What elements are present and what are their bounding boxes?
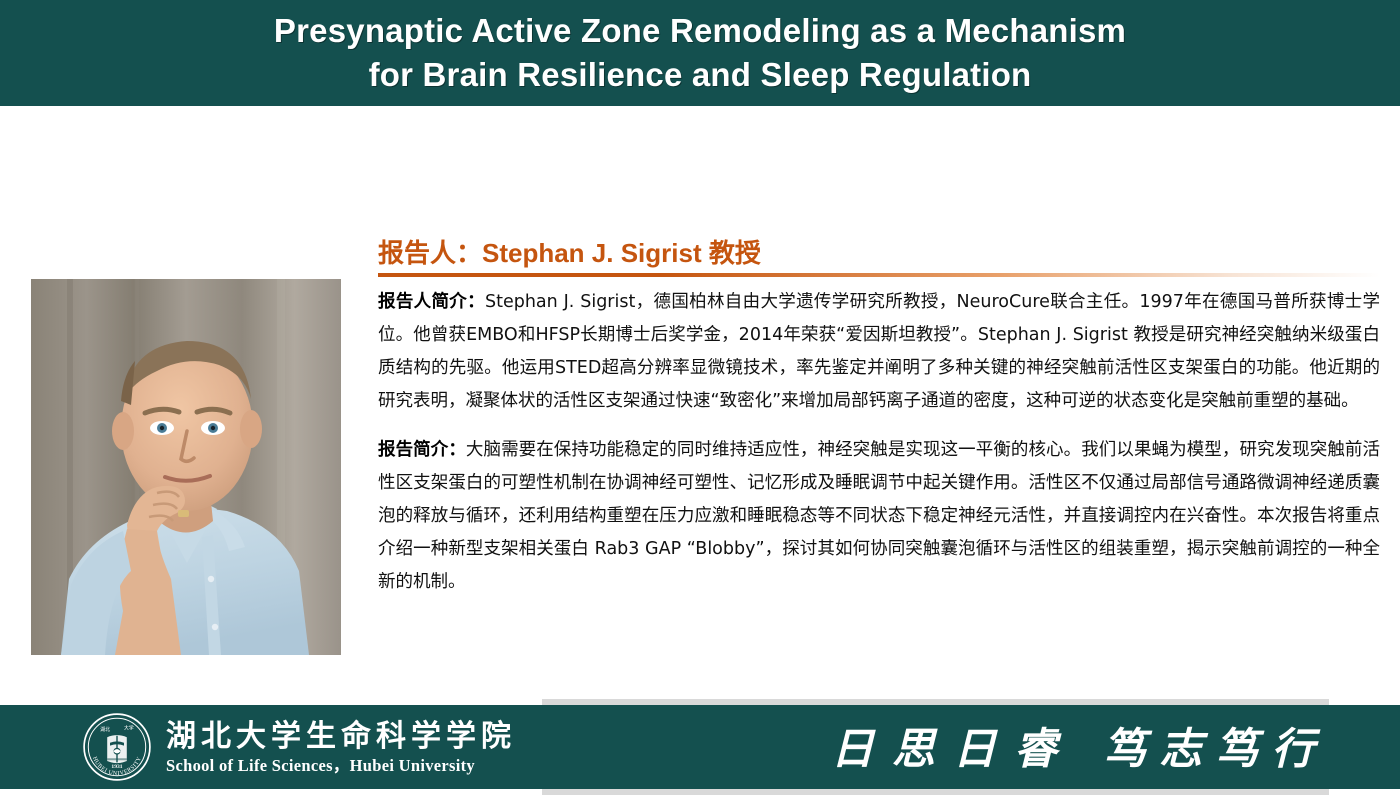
school-name-block: 湖北大学生命科学学院 School of Life Sciences，Hubei… [166, 719, 516, 776]
abstract-label: 报告简介： [378, 440, 466, 460]
motto-part-2: 笃志笃行 [1103, 725, 1327, 775]
speaker-heading: 报告人：Stephan J. Sigrist 教授 [378, 236, 1380, 270]
svg-text:湖北: 湖北 [100, 726, 110, 733]
poster-title-line-1: Presynaptic Active Zone Remodeling as a … [274, 9, 1126, 53]
speaker-portrait-image [31, 279, 341, 655]
school-name-en: School of Life Sciences，Hubei University [166, 755, 516, 776]
bio-text: Stephan J. Sigrist，德国柏林自由大学遗传学研究所教授，Neur… [378, 292, 1380, 411]
abstract-text: 大脑需要在保持功能稳定的同时维持适应性，神经突触是实现这一平衡的核心。我们以果蝇… [378, 440, 1380, 592]
motto-part-1: 日思日睿 [831, 725, 1075, 775]
content-column: 报告人：Stephan J. Sigrist 教授 报告人简介：Stephan … [378, 236, 1380, 599]
poster-footer: 1931 HUBEI UNIVERSITY 湖北 大学 湖北大学生命科学学院 S… [0, 705, 1400, 789]
bio-label: 报告人简介： [378, 292, 485, 312]
svg-text:大学: 大学 [124, 725, 134, 732]
university-seal-icon: 1931 HUBEI UNIVERSITY 湖北 大学 [82, 712, 152, 782]
speaker-photo [31, 279, 341, 655]
abstract-paragraph: 报告简介：大脑需要在保持功能稳定的同时维持适应性，神经突触是实现这一平衡的核心。… [378, 434, 1380, 599]
university-motto: 日思日睿 笃志笃行 [831, 714, 1343, 780]
poster-header: Presynaptic Active Zone Remodeling as a … [0, 0, 1400, 106]
school-name-cn: 湖北大学生命科学学院 [166, 719, 516, 755]
motto-calligraphy-icon: 日思日睿 笃志笃行 [831, 714, 1343, 780]
speaker-heading-rule [378, 273, 1380, 277]
poster-title-line-2: for Brain Resilience and Sleep Regulatio… [369, 53, 1032, 97]
bio-paragraph: 报告人简介：Stephan J. Sigrist，德国柏林自由大学遗传学研究所教… [378, 286, 1380, 418]
poster-body: 报告人：Stephan J. Sigrist 教授 报告人简介：Stephan … [0, 106, 1400, 705]
svg-text:1931: 1931 [111, 764, 122, 770]
university-logo-block: 1931 HUBEI UNIVERSITY 湖北 大学 湖北大学生命科学学院 S… [82, 712, 516, 782]
